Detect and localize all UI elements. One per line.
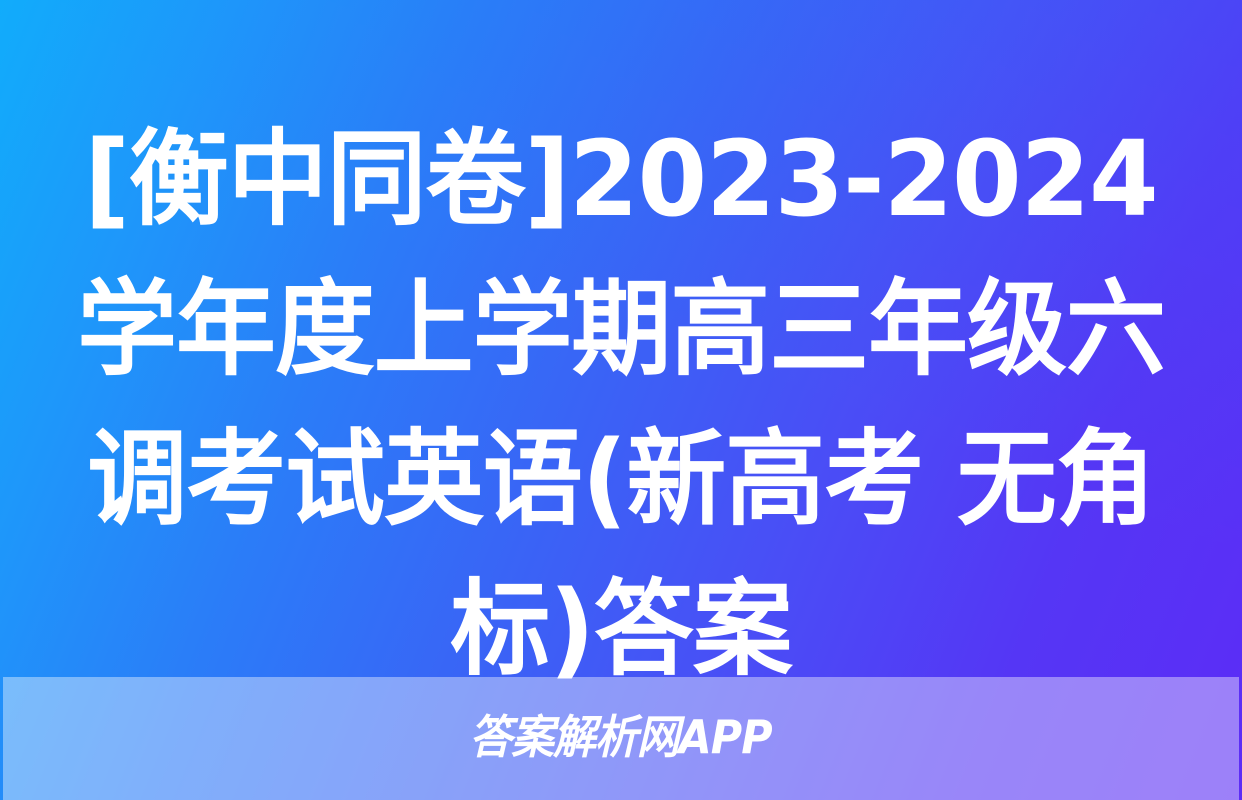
title-line-3: 调考试英语(新高考 无角 <box>42 404 1200 554</box>
title-line-1: [衡中同卷]2023-2024 <box>42 104 1200 254</box>
page-title: [衡中同卷]2023-2024 学年度上学期高三年级六 调考试英语(新高考 无角… <box>0 104 1242 704</box>
footer-brand-label: 答案解析网APP <box>470 714 772 760</box>
title-line-2: 学年度上学期高三年级六 <box>42 254 1200 404</box>
footer-brand-bar: 答案解析网APP <box>3 677 1239 800</box>
poster-canvas: [衡中同卷]2023-2024 学年度上学期高三年级六 调考试英语(新高考 无角… <box>0 0 1242 800</box>
